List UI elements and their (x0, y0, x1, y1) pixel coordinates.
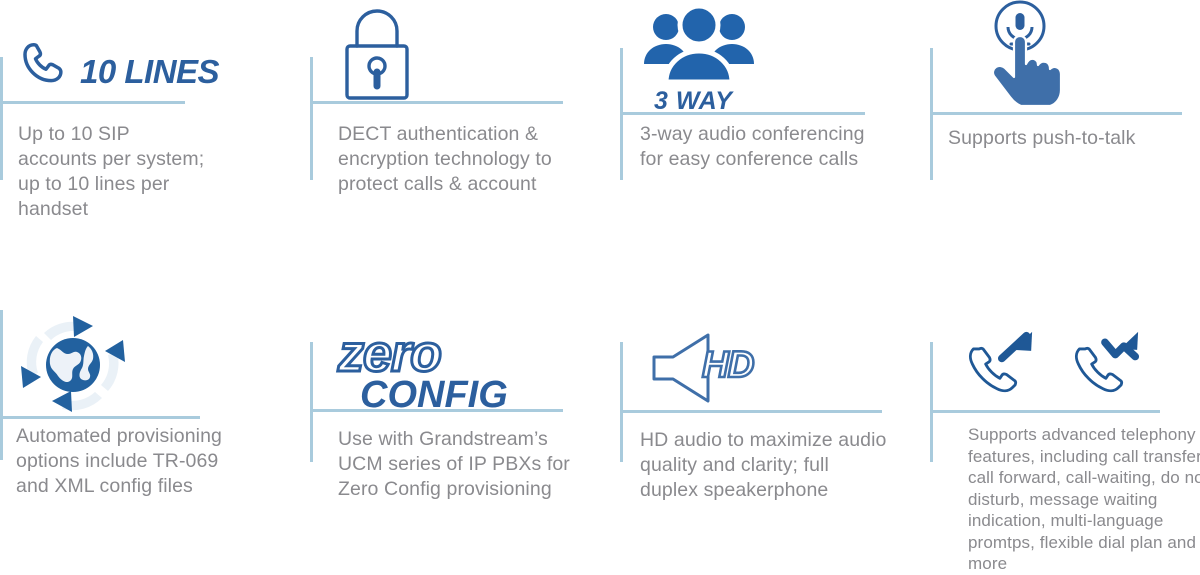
icon-zone (960, 330, 1142, 407)
icon-zone: zero CONFIG (338, 332, 508, 413)
feature-description: Supports push-to-talk (948, 126, 1193, 151)
feature-grid-board: 10 LINES Up to 10 SIP accounts per syste… (0, 0, 1200, 573)
three-way-badge-label: 3 WAY (654, 87, 732, 116)
icon-zone: HD (646, 330, 768, 411)
icon-zone (338, 4, 416, 107)
zero-wordmark-line: zero (338, 332, 508, 377)
zero-config-wordmark-icon: zero CONFIG (338, 332, 508, 413)
card-rule-vertical (620, 342, 623, 462)
card-rule-vertical (0, 57, 3, 180)
ten-lines-badge-label: 10 LINES (80, 53, 219, 91)
card-rule-horizontal (930, 112, 1182, 115)
speaker-hd-icon: HD (646, 330, 768, 411)
feature-card-push-to-talk: Supports push-to-talk (930, 0, 1200, 300)
feature-description: HD audio to maximize audio quality and c… (640, 428, 890, 503)
config-wordmark-line: CONFIG (360, 377, 508, 413)
card-rule-vertical (930, 342, 933, 462)
icon-zone (18, 312, 128, 421)
card-rule-horizontal (0, 101, 185, 104)
hand-pressing-microphone-button-icon (978, 0, 1074, 111)
icon-zone (978, 0, 1074, 111)
feature-card-ten-lines: 10 LINES Up to 10 SIP accounts per syste… (0, 0, 310, 300)
hd-badge-label: HD (702, 346, 753, 383)
feature-description: Up to 10 SIP accounts per system; up to … (18, 122, 208, 222)
card-rule-horizontal (930, 410, 1160, 413)
card-rule-vertical (310, 57, 313, 180)
feature-card-zero-config: zero CONFIG Use with Grandstream’s UCM s… (310, 300, 620, 573)
feature-card-dect-security: DECT authentication & encryption technol… (310, 0, 620, 300)
call-transfer-icon (960, 330, 1036, 407)
card-rule-vertical (310, 342, 313, 462)
feature-card-auto-provisioning: Automated provisioning options include T… (0, 300, 310, 573)
feature-description: DECT authentication & encryption technol… (338, 122, 588, 197)
phone-handset-icon (18, 36, 74, 97)
feature-description: Supports advanced telephony features, in… (968, 424, 1200, 575)
call-forward-icon (1066, 330, 1142, 407)
icon-zone: 10 LINES (18, 36, 219, 97)
card-rule-vertical (0, 310, 3, 460)
icon-zone: 3 WAY (640, 2, 758, 116)
globe-refresh-arrows-icon (18, 312, 128, 421)
feature-description: 3-way audio conferencing for easy confer… (640, 122, 885, 172)
feature-description: Use with Grandstream’s UCM series of IP … (338, 427, 588, 502)
feature-grid: 10 LINES Up to 10 SIP accounts per syste… (0, 0, 1200, 573)
feature-card-advanced-telephony: Supports advanced telephony features, in… (930, 300, 1200, 573)
three-people-icon (640, 2, 758, 89)
feature-description: Automated provisioning options include T… (16, 424, 231, 499)
padlock-icon (338, 4, 416, 107)
feature-card-three-way: 3 WAY 3-way audio conferencing for easy … (620, 0, 930, 300)
feature-card-hd-audio: HD HD audio to maximize audio quality an… (620, 300, 930, 573)
